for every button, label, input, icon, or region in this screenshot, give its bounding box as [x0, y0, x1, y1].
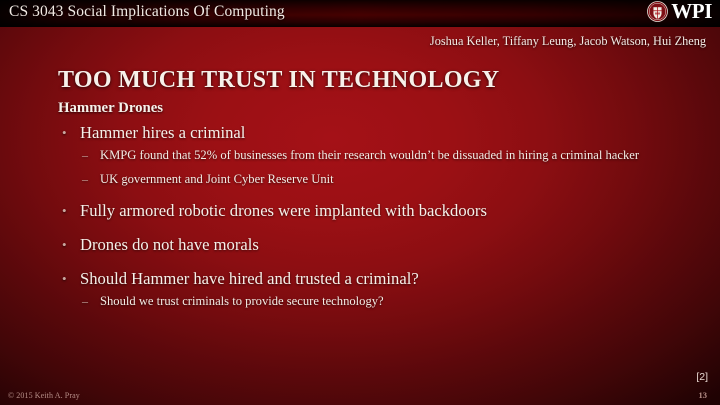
bullet-item: •Drones do not have morals	[58, 234, 698, 256]
bullet-marker-icon: •	[62, 200, 67, 222]
bullet-item: •Hammer hires a criminal	[58, 122, 698, 144]
bullet-marker-icon: •	[62, 122, 67, 144]
bullet-text: Should Hammer have hired and trusted a c…	[80, 269, 419, 288]
wpi-wordmark: WPI	[671, 1, 712, 22]
course-title: CS 3043 Social Implications Of Computing	[9, 3, 285, 21]
citation-reference: [2]	[696, 371, 708, 383]
slide-subtitle: Hammer Drones	[58, 100, 163, 117]
sub-bullet-marker-icon: –	[82, 171, 88, 188]
bullet-marker-icon: •	[62, 234, 67, 256]
wpi-logo: WPI	[647, 1, 712, 22]
sub-bullet-marker-icon: –	[82, 293, 88, 310]
slide-title: TOO MUCH TRUST IN TECHNOLOGY	[58, 67, 499, 94]
sub-bullet-item: –UK government and Joint Cyber Reserve U…	[58, 171, 698, 188]
wpi-seal-icon	[647, 1, 668, 22]
copyright-notice: © 2015 Keith A. Pray	[8, 391, 80, 400]
presentation-slide: CS 3043 Social Implications Of Computing…	[0, 0, 720, 405]
bullet-text: Fully armored robotic drones were implan…	[80, 201, 487, 220]
bullet-text: Hammer hires a criminal	[80, 123, 245, 142]
authors-line: Joshua Keller, Tiffany Leung, Jacob Wats…	[430, 34, 706, 49]
slide-page-number: 13	[699, 390, 708, 400]
sub-bullet-item: –KMPG found that 52% of businesses from …	[58, 147, 698, 164]
bullet-text: KMPG found that 52% of businesses from t…	[100, 148, 639, 162]
slide-body-list: •Hammer hires a criminal–KMPG found that…	[58, 118, 698, 310]
bullet-text: Drones do not have morals	[80, 235, 259, 254]
bullet-item: •Fully armored robotic drones were impla…	[58, 200, 698, 222]
bullet-marker-icon: •	[62, 268, 67, 290]
sub-bullet-item: –Should we trust criminals to provide se…	[58, 293, 698, 310]
bullet-text: Should we trust criminals to provide sec…	[100, 294, 384, 308]
bullet-item: •Should Hammer have hired and trusted a …	[58, 268, 698, 290]
sub-bullet-marker-icon: –	[82, 147, 88, 164]
slide-header-bar: CS 3043 Social Implications Of Computing…	[0, 0, 720, 27]
bullet-text: UK government and Joint Cyber Reserve Un…	[100, 172, 334, 186]
